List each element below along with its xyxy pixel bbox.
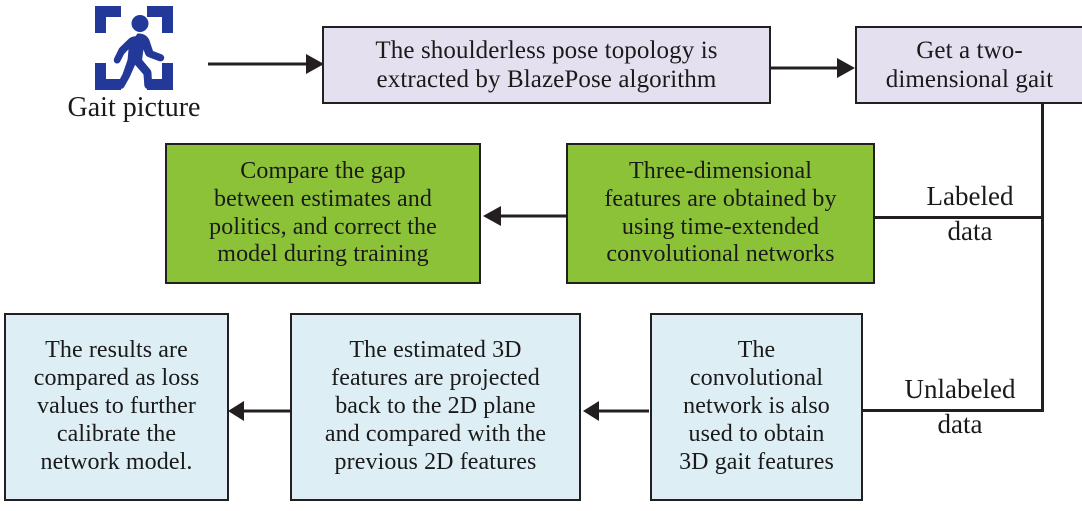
arrow-icon-to-extract: [206, 49, 326, 79]
arrow-extract-to-twodim: [771, 53, 857, 83]
box-pose-extraction-text: The shoulderless pose topology is extrac…: [328, 36, 765, 94]
box-convolutional-network: The convolutional network is also used t…: [650, 313, 863, 501]
box-loss-results: The results are compared as loss values …: [4, 313, 229, 501]
diagram-canvas: Gait picture The shoulderless pose topol…: [0, 0, 1082, 511]
arrow-threedim-to-compare: [481, 201, 569, 231]
gait-picture-caption: Gait picture: [38, 92, 230, 124]
box-loss-results-text: The results are compared as loss values …: [10, 337, 223, 476]
box-projected-2d-text: The estimated 3D features are projected …: [296, 337, 575, 476]
connector-vertical-rail: [1041, 104, 1044, 412]
label-labeled-data-top: Labeled: [900, 183, 1040, 211]
label-unlabeled-data-top: Unlabeled: [876, 376, 1044, 404]
box-pose-extraction: The shoulderless pose topology is extrac…: [322, 26, 771, 104]
box-three-dimensional-features-text: Three-dimensional features are obtained …: [572, 158, 869, 269]
box-compare-gap: Compare the gap between estimates and po…: [165, 143, 481, 284]
label-unlabeled-data-bottom: data: [876, 411, 1044, 439]
label-labeled-data-bottom: data: [900, 218, 1040, 246]
box-three-dimensional-features: Three-dimensional features are obtained …: [566, 143, 875, 284]
box-convolutional-network-text: The convolutional network is also used t…: [656, 337, 857, 476]
arrow-projected-to-results: [226, 396, 294, 426]
box-two-dimensional-gait-text: Get a two- dimensional gait: [861, 36, 1078, 94]
box-compare-gap-text: Compare the gap between estimates and po…: [171, 158, 475, 269]
arrow-convnet-to-projected: [581, 396, 651, 426]
box-projected-2d: The estimated 3D features are projected …: [290, 313, 581, 501]
gait-picture-icon: [93, 4, 175, 92]
box-two-dimensional-gait: Get a two- dimensional gait: [855, 26, 1082, 104]
